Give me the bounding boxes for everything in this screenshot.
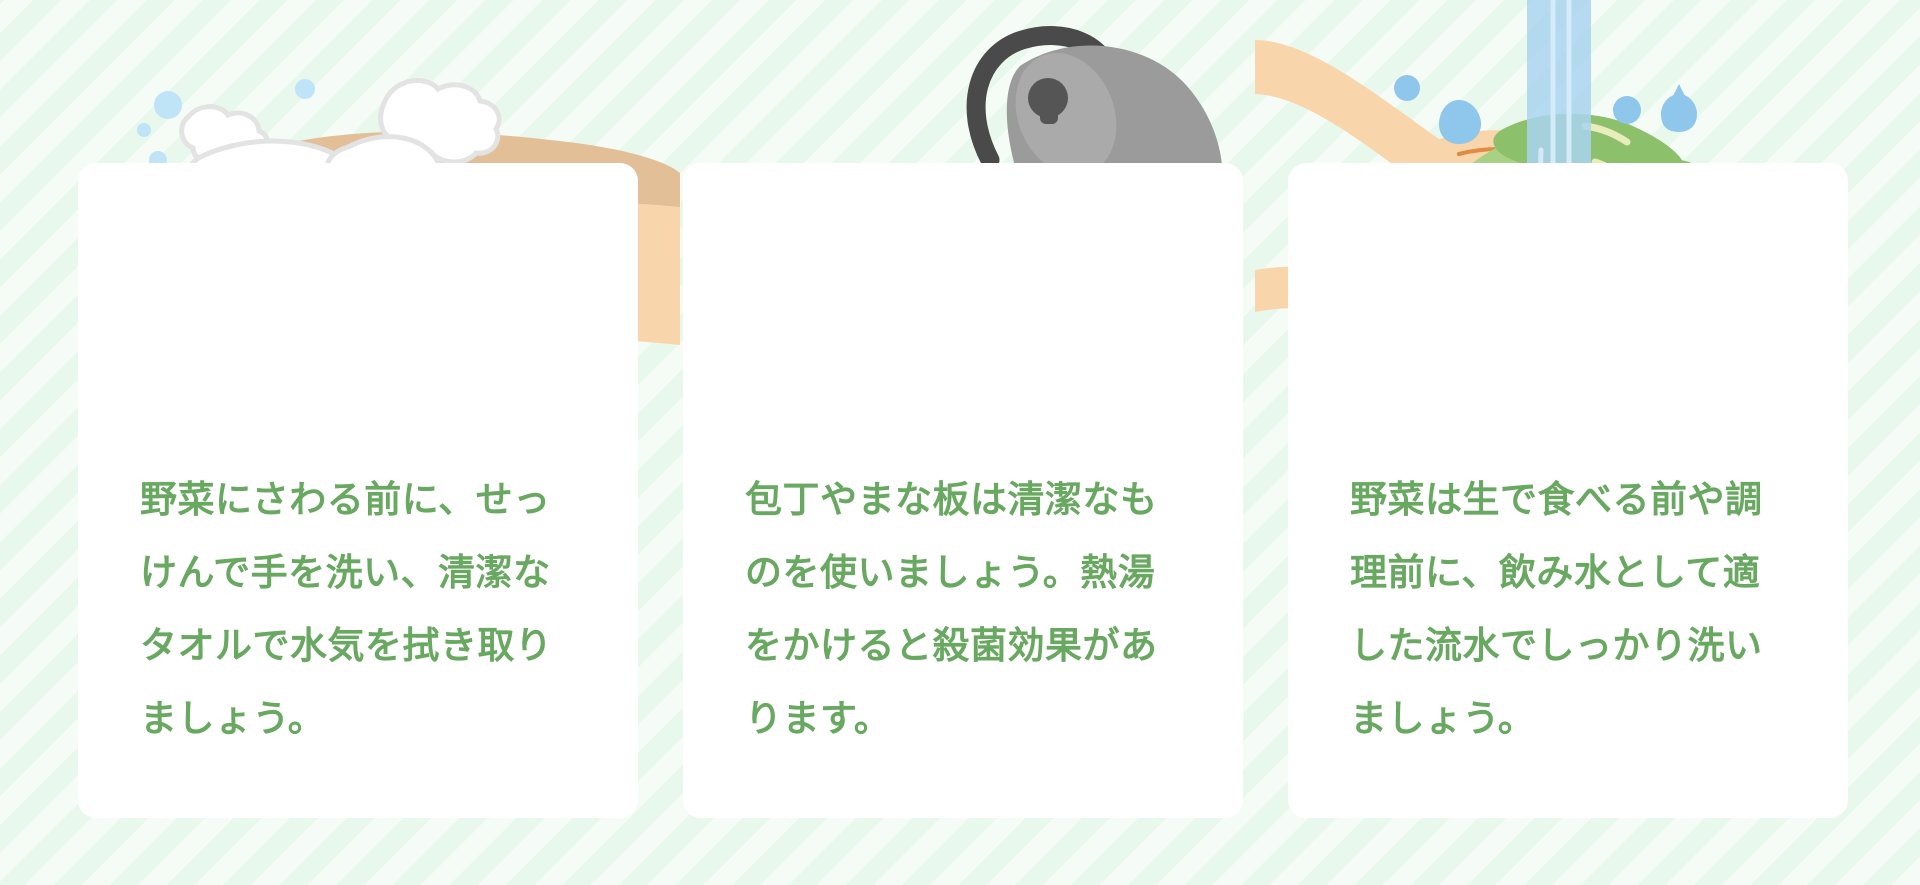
info-card-kettle-cuttingboard[interactable]: 包丁やまな板は清潔なものを使いましょう。熱湯をかけると殺菌効果があります。 (683, 163, 1243, 818)
info-card-kettle-cuttingboard-text: 包丁やまな板は清潔なものを使いましょう。熱湯をかけると殺菌効果があります。 (683, 463, 1243, 755)
info-card-washing-vegetable-text: 野菜は生で食べる前や調理前に、飲み水として適した流水でしっかり洗いましょう。 (1288, 463, 1848, 755)
info-card-handwashing-text: 野菜にさわる前に、せっけんで手を洗い、清潔なタオルで水気を拭き取りましょう。 (78, 463, 638, 755)
card-grid: 野菜にさわる前に、せっけんで手を洗い、清潔なタオルで水気を拭き取りましょう。 包… (0, 0, 1920, 885)
info-card-washing-vegetable[interactable]: 野菜は生で食べる前や調理前に、飲み水として適した流水でしっかり洗いましょう。 (1288, 163, 1848, 818)
info-card-handwashing[interactable]: 野菜にさわる前に、せっけんで手を洗い、清潔なタオルで水気を拭き取りましょう。 (78, 163, 638, 818)
